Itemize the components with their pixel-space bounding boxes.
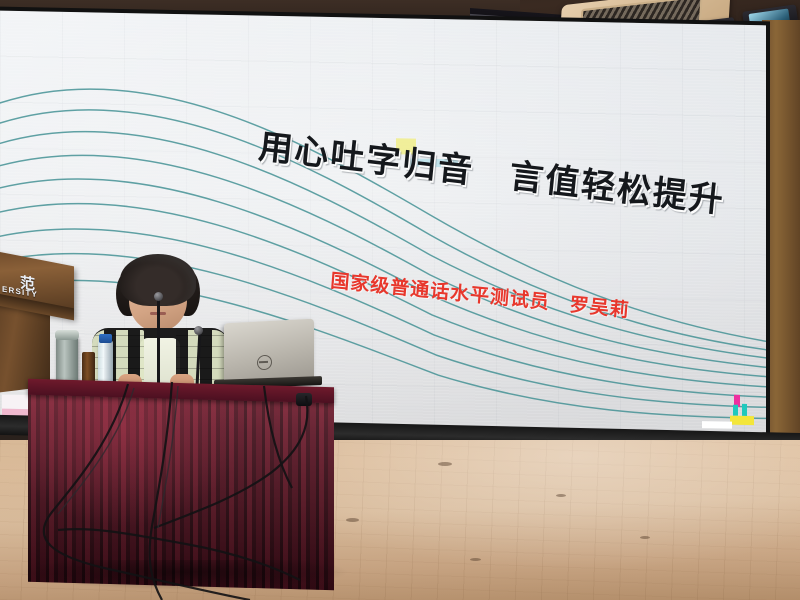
photo-scene: 用心吐字归音 言值轻松提升 国家级普通话水平测试员 罗吴莉 范 ERSITY [0,0,800,600]
stage-cables [0,330,800,600]
microphone-head-1 [154,292,163,301]
